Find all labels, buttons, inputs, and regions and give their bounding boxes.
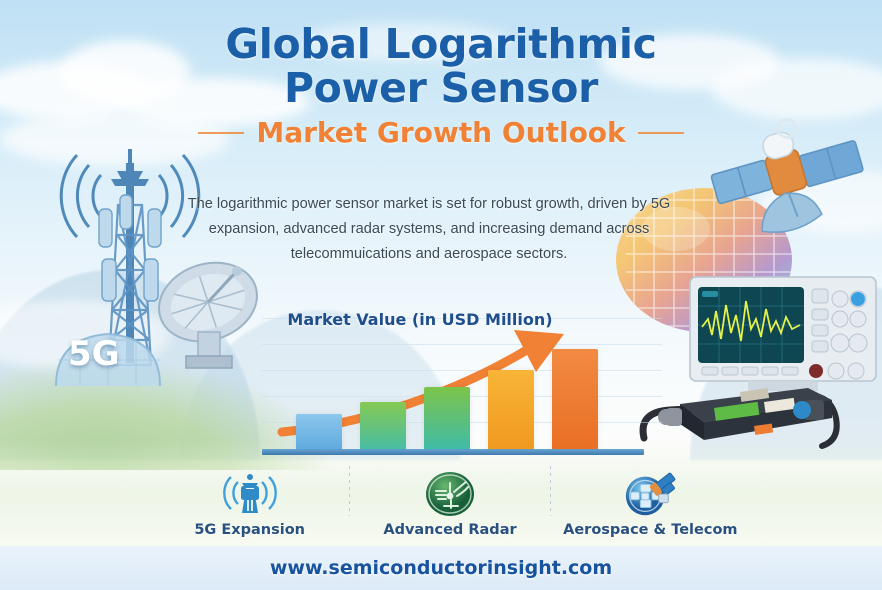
- bar-1: [296, 414, 342, 450]
- chart-baseline: [262, 449, 644, 455]
- feature-label: Aerospace & Telecom: [563, 522, 737, 538]
- feature-label: Advanced Radar: [383, 522, 516, 538]
- website-url[interactable]: www.semiconductorinsight.com: [0, 557, 882, 579]
- badge-5g-text: 5G: [68, 334, 120, 374]
- feature-5g-expansion[interactable]: 5G Expansion: [150, 470, 349, 538]
- infographic-poster: 5G: [0, 0, 882, 590]
- feature-row: 5G Expansion: [150, 462, 750, 538]
- bar-4: [488, 370, 534, 450]
- subtitle-rule-left: [198, 132, 244, 134]
- badge-5g: 5G: [50, 320, 170, 392]
- chart-title: Market Value (in USD Million): [262, 310, 578, 329]
- intro-paragraph: The logarithmic power sensor market is s…: [186, 192, 672, 267]
- bar-5: [552, 349, 598, 450]
- satellite-chip-icon: [622, 470, 678, 518]
- power-sensor-module-illustration: [636, 378, 844, 450]
- market-value-chart: Market Value (in USD Million): [262, 300, 622, 458]
- feature-aerospace-telecom[interactable]: Aerospace & Telecom: [551, 470, 750, 538]
- bar-3: [424, 387, 470, 450]
- subtitle-rule-right: [638, 132, 684, 134]
- cell-tower-icon: [222, 470, 278, 518]
- feature-advanced-radar[interactable]: Advanced Radar: [350, 470, 549, 538]
- page-subtitle: Market Growth Outlook: [256, 116, 625, 149]
- subtitle-row: Market Growth Outlook: [0, 116, 882, 149]
- chart-bars: [296, 338, 612, 450]
- page-title-line2: Power Sensor: [0, 66, 882, 110]
- page-title-line1: Global Logarithmic: [0, 22, 882, 66]
- bar-2: [360, 402, 406, 450]
- feature-label: 5G Expansion: [194, 522, 305, 538]
- header: Global Logarithmic Power Sensor Market G…: [0, 22, 882, 149]
- radar-dish-icon: [422, 470, 478, 518]
